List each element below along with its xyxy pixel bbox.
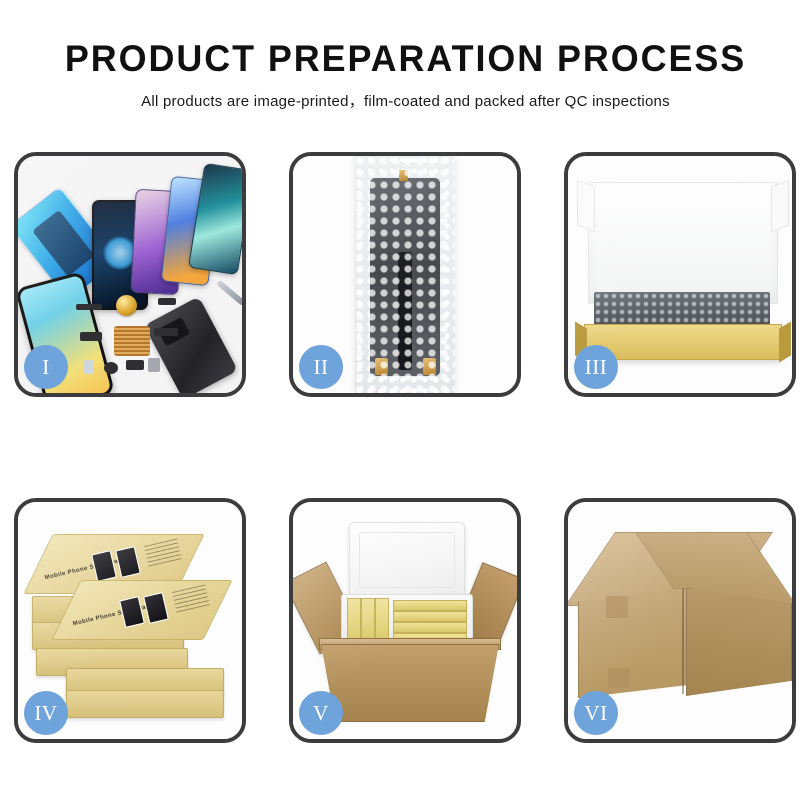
small-part-6 bbox=[126, 360, 144, 370]
process-step-panel-5[interactable]: V bbox=[289, 498, 521, 743]
carton-front-face bbox=[578, 588, 690, 698]
carton-body bbox=[321, 644, 499, 722]
step-badge-4: IV bbox=[24, 691, 68, 735]
product-preparation-infographic: PRODUCT PREPARATION PROCESS All products… bbox=[0, 0, 811, 811]
step-numeral: V bbox=[313, 701, 329, 726]
step-badge-3: III bbox=[574, 345, 618, 389]
process-step-panel-1[interactable]: I bbox=[14, 152, 246, 397]
small-part-1 bbox=[76, 304, 102, 310]
small-part-2 bbox=[80, 332, 102, 341]
small-part-7 bbox=[84, 360, 94, 374]
repair-tweezers bbox=[216, 280, 242, 306]
process-step-grid: I II bbox=[14, 152, 797, 743]
small-part-4 bbox=[154, 328, 178, 336]
page-subtitle: All products are image-printed，film-coat… bbox=[0, 90, 811, 111]
box-stack: Mobile Phone Spare Parts Mobile Phone Sp… bbox=[32, 530, 232, 716]
process-step-panel-6[interactable]: VI bbox=[564, 498, 796, 743]
stacked-box-1b bbox=[66, 690, 224, 718]
small-part-8 bbox=[148, 358, 160, 372]
small-part-3 bbox=[158, 298, 176, 305]
connector-grid-component bbox=[114, 326, 150, 356]
step-numeral: II bbox=[314, 355, 329, 380]
carton-corner-seam bbox=[682, 588, 684, 694]
foam-box-lid bbox=[349, 522, 465, 598]
page-title: PRODUCT PREPARATION PROCESS bbox=[12, 40, 799, 79]
process-step-panel-4[interactable]: Mobile Phone Spare Parts Mobile Phone Sp… bbox=[14, 498, 246, 743]
bubble-wrap-overlay bbox=[355, 156, 455, 393]
step-badge-1: I bbox=[24, 345, 68, 389]
step-badge-2: II bbox=[299, 345, 343, 389]
step-numeral: VI bbox=[584, 701, 607, 726]
step-badge-6: VI bbox=[574, 691, 618, 735]
carton-tape-lower bbox=[608, 668, 630, 688]
inner-box-4 bbox=[393, 600, 467, 611]
header: PRODUCT PREPARATION PROCESS All products… bbox=[0, 0, 811, 111]
process-step-panel-3[interactable]: III bbox=[564, 152, 796, 397]
bubble-wrap-inside-box bbox=[594, 292, 770, 328]
inner-box-6 bbox=[393, 622, 467, 633]
step-numeral: III bbox=[585, 355, 607, 380]
carton-side-face bbox=[686, 588, 792, 696]
speaker-component bbox=[116, 295, 137, 316]
carton-tape-upper bbox=[606, 596, 628, 618]
step-badge-5: V bbox=[299, 691, 343, 735]
step-numeral: IV bbox=[34, 701, 57, 726]
process-step-panel-2[interactable]: II bbox=[289, 152, 521, 397]
small-part-5 bbox=[104, 362, 118, 374]
inner-box-5 bbox=[393, 611, 467, 622]
step-numeral: I bbox=[42, 355, 50, 380]
phone-back-housing bbox=[144, 296, 238, 393]
box-lid-white bbox=[588, 182, 778, 304]
